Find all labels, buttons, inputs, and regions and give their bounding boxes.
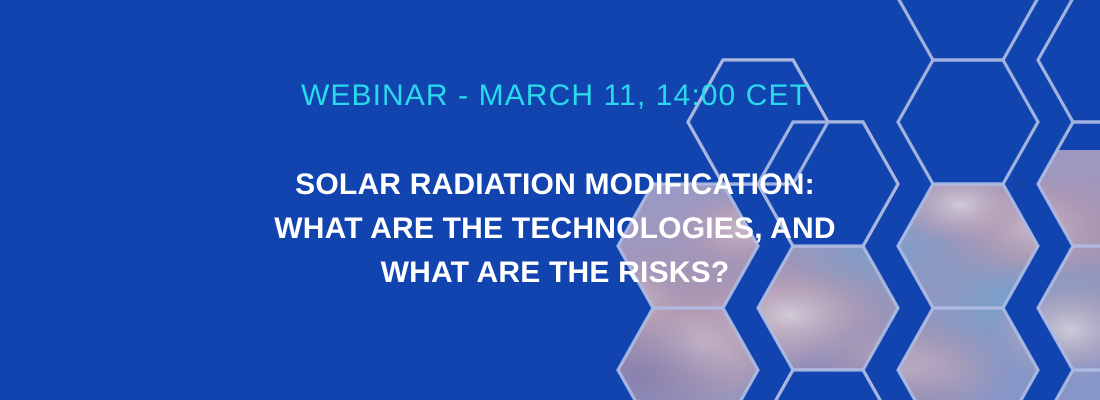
webinar-banner: WEBINAR - MARCH 11, 14:00 CET SOLAR RADI… bbox=[0, 0, 1100, 400]
hexagon-cloud-pattern bbox=[0, 0, 1100, 400]
